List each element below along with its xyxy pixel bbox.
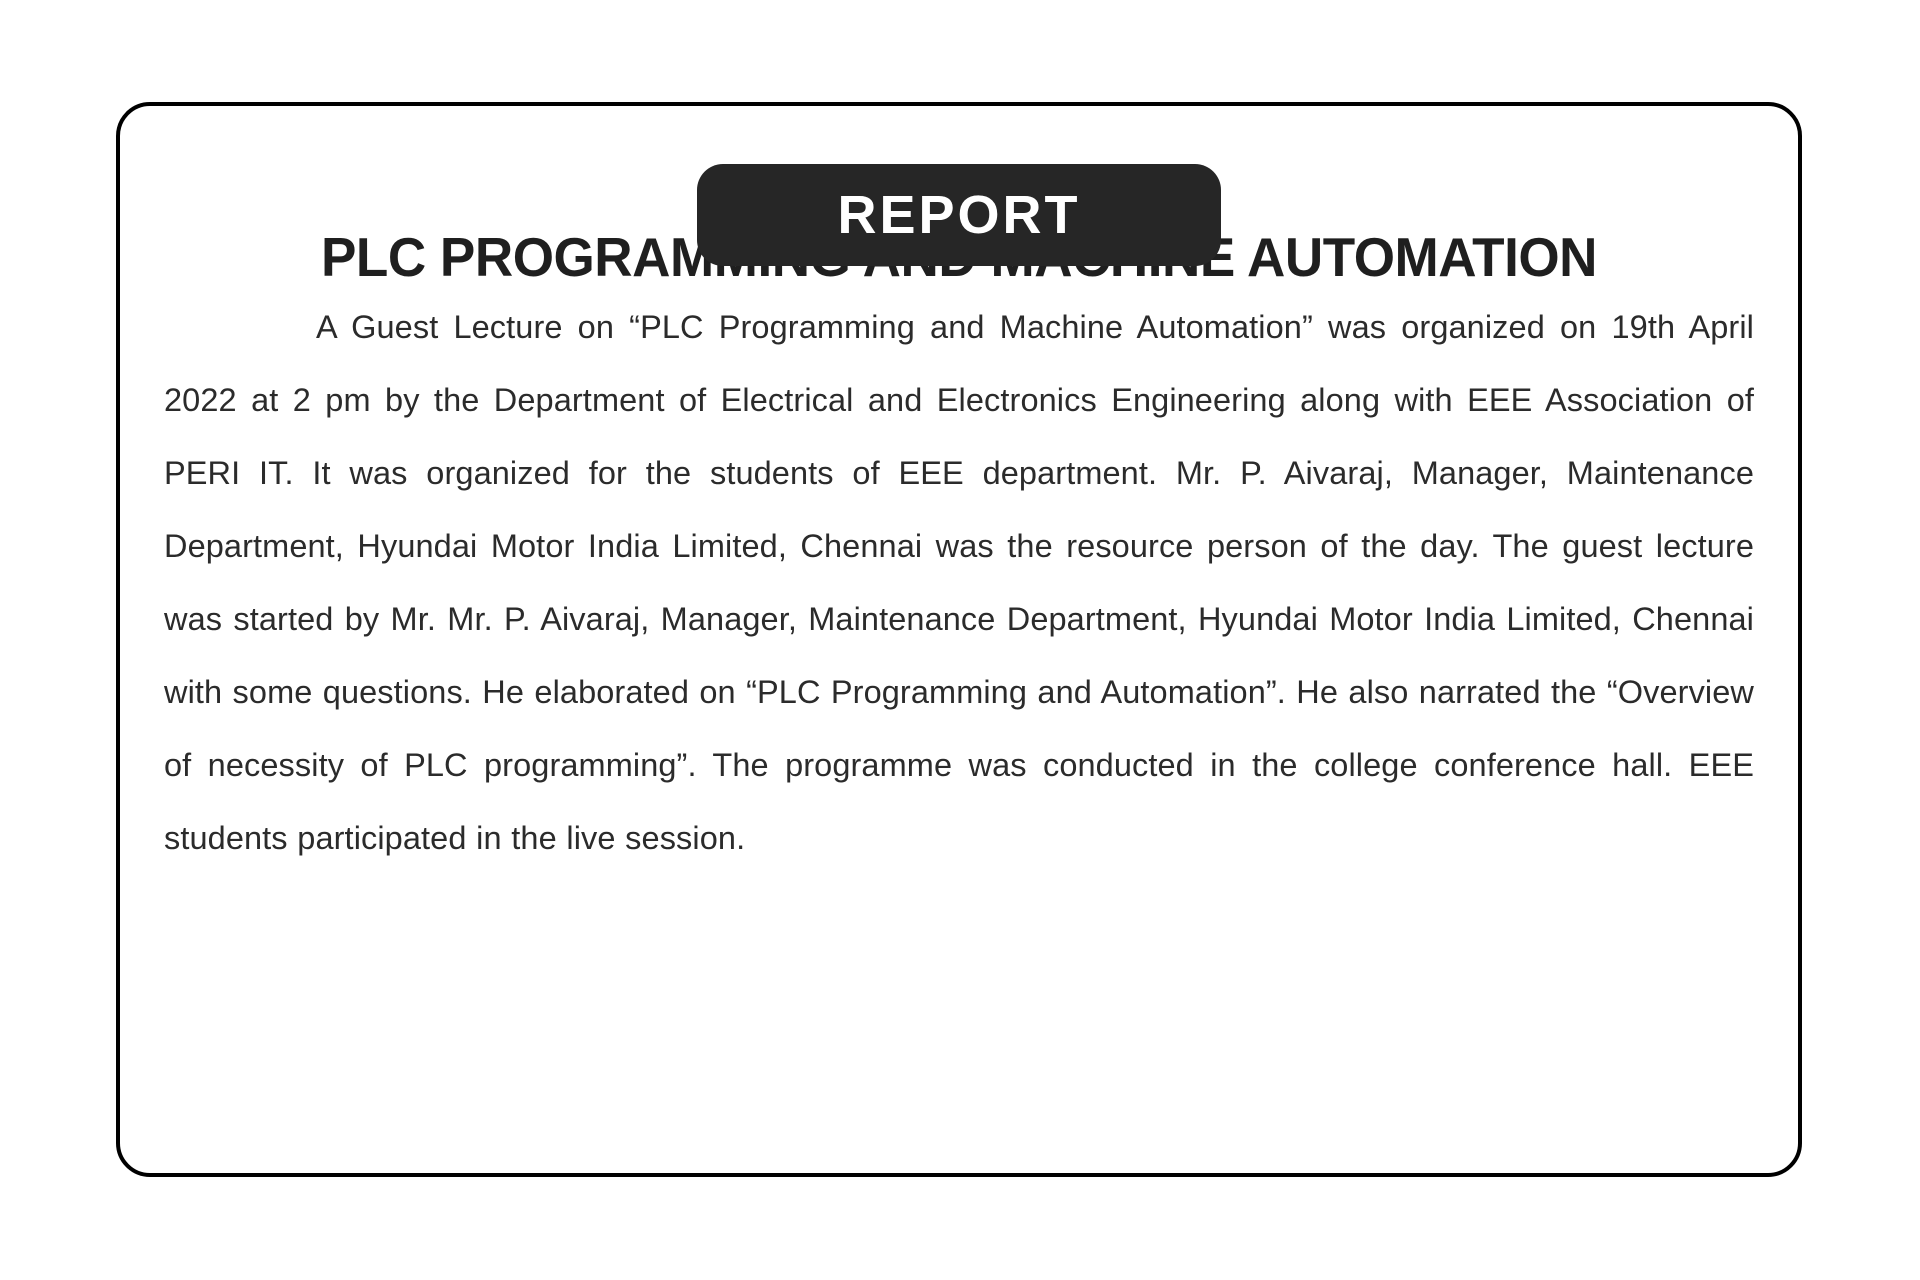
report-card: REPORT PLC PROGRAMMING AND MACHINE AUTOM…	[116, 102, 1802, 1177]
report-body-text: A Guest Lecture on “PLC Programming and …	[164, 291, 1754, 875]
report-page: REPORT PLC PROGRAMMING AND MACHINE AUTOM…	[0, 0, 1920, 1280]
report-badge: REPORT	[697, 164, 1221, 266]
report-badge-label: REPORT	[837, 188, 1080, 242]
